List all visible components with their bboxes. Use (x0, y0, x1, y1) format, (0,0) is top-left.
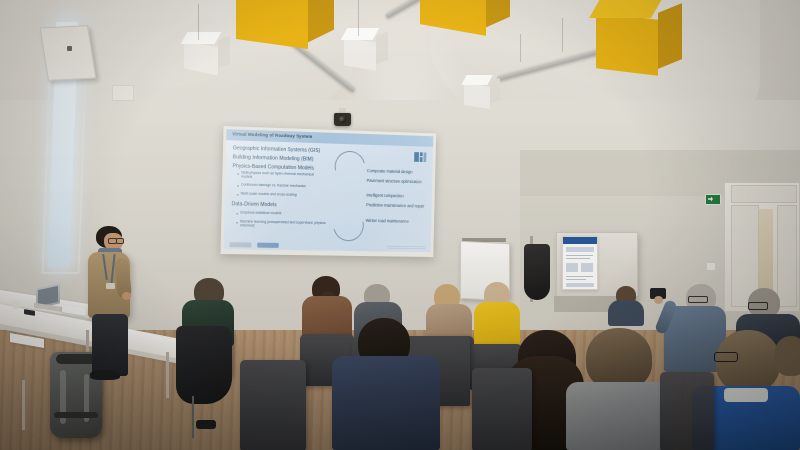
poster-line-1 (566, 255, 593, 256)
poster-block-1 (566, 247, 594, 252)
poster-block-4 (566, 283, 594, 287)
dark-coat (524, 244, 550, 300)
presenter-badge (106, 283, 115, 289)
photographer-glasses (688, 296, 708, 303)
chair-front-4 (660, 372, 714, 450)
pendant-wire-2 (562, 18, 563, 52)
chair-front-3 (240, 360, 306, 450)
attendee-blue-shirt-glasses (714, 352, 738, 362)
wall-socket[interactable] (706, 262, 716, 271)
presenter-shoe (90, 370, 120, 380)
draped-black-coat (176, 326, 232, 404)
attendee-short-hair-front-head (586, 328, 652, 390)
poster-line-2 (566, 258, 590, 259)
information-poster (562, 236, 598, 290)
cube-wire-1 (198, 4, 199, 40)
presenter-legs (92, 314, 128, 376)
attendee-far-body (608, 300, 644, 326)
presenter-hand (122, 292, 131, 300)
cup-on-table (12, 300, 20, 309)
attendee-brown-braid-body (302, 296, 352, 338)
poster-header (563, 237, 597, 244)
attendee-navy-hoodie-body (332, 356, 440, 450)
attendee-edge-head (774, 336, 800, 376)
attendee-short-hair-front-body (566, 382, 674, 450)
poster-line-3 (566, 276, 593, 277)
pendant-wire-1 (520, 34, 521, 62)
exit-sign-icon (705, 194, 721, 205)
screen-glare (224, 129, 434, 252)
lecture-room-photo: Virtual Modeling of Roadway System Geogr… (0, 0, 800, 450)
chair-front-2 (472, 368, 532, 450)
attendee-green-jacket-shoe (196, 420, 216, 429)
poster-block-2 (566, 263, 578, 272)
door-panel-right (777, 205, 797, 307)
presenter-glasses-2 (116, 238, 124, 244)
table-leg-3 (22, 380, 25, 430)
poster-block-3 (581, 263, 593, 272)
attendee-glasses-right-glasses (748, 302, 768, 310)
table-leg-2 (166, 352, 169, 398)
cube-wire-2 (358, 0, 359, 36)
speaker-indicator (67, 46, 72, 51)
projection-screen: Virtual Modeling of Roadway System Geogr… (220, 126, 436, 257)
chair-1-leg (192, 396, 194, 438)
poster-line-4 (566, 279, 586, 280)
wall-control-panel[interactable] (112, 85, 134, 101)
attendee-blue-shirt-collar (724, 388, 768, 402)
ceiling-camera-icon (334, 113, 351, 126)
door-transom (731, 185, 797, 203)
wall-speaker (40, 25, 97, 81)
photographer-hand (654, 296, 663, 304)
